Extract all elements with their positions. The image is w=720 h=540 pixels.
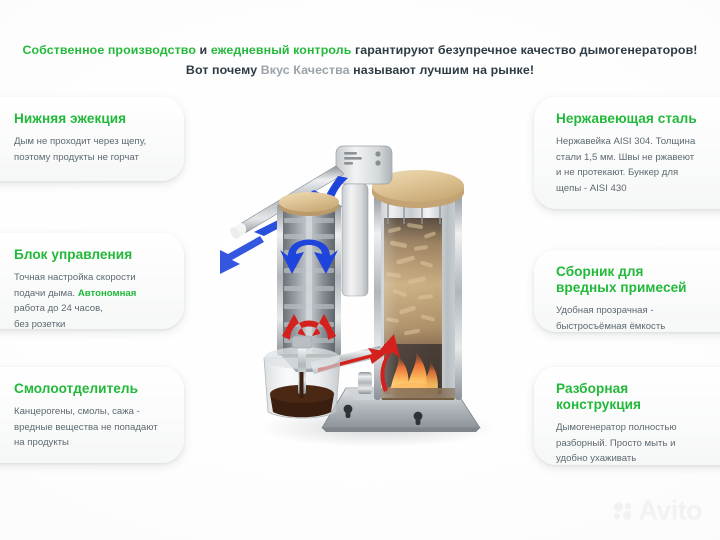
card-body-control-unit: Точная настройка скорости подачи дыма. А… <box>14 270 168 332</box>
card-body-tar-separator: Канцерогены, смолы, сажа - вредные вещес… <box>14 404 168 451</box>
card-title-lower-ejection: Нижняя эжекция <box>14 111 168 127</box>
card-title-impurity-collector: Сборник для вредных примесей <box>556 264 706 296</box>
card-title-tar-separator: Смолоотделитель <box>14 381 168 397</box>
card-title-dismountable: Разборная конструкция <box>556 381 706 413</box>
header-line1-tail: гарантируют безупречное качество дымоген… <box>351 43 697 57</box>
feature-card-stainless-steel: Нержавеющая сталь Нержавейка AISI 304. Т… <box>534 97 720 209</box>
header-line2-lead: Вот почему <box>186 63 261 77</box>
card-body-control-unit-accent: Автономная <box>78 288 137 299</box>
card-body-dismountable: Дымогенератор полностью разборный. Прост… <box>556 420 706 467</box>
feature-card-dismountable: Разборная конструкция Дымогенератор полн… <box>534 367 720 465</box>
support-column <box>358 372 372 394</box>
avito-wordmark: Avito <box>639 497 703 524</box>
card-body-stainless-steel: Нержавейка AISI 304. Толщина стали 1,5 м… <box>556 134 706 196</box>
card-body-impurity-collector: Удобная прозрачная - быстросъёмная ёмкос… <box>556 303 706 334</box>
header-highlight-control: ежедневный контроль <box>211 43 352 57</box>
header-line-2: Вот почему Вкус Качества называют лучшим… <box>14 62 706 80</box>
header-line-1: Собственное производство и ежедневный ко… <box>14 42 706 60</box>
avito-dots-icon <box>614 502 634 519</box>
feature-card-impurity-collector: Сборник для вредных примесей Удобная про… <box>534 250 720 332</box>
wood-chip-hopper <box>372 170 464 400</box>
card-title-stainless-steel: Нержавеющая сталь <box>556 111 706 127</box>
avito-watermark: Avito <box>614 497 703 524</box>
brand-name: Вкус Качества <box>261 63 350 77</box>
header-conjunction: и <box>196 43 211 57</box>
header-line2-tail: называют лучшим на рынке! <box>350 63 534 77</box>
product-illustration <box>218 132 504 452</box>
card-title-control-unit: Блок управления <box>14 247 168 263</box>
card-body-control-unit-part2: работа до 24 часов, без розетки <box>14 303 103 330</box>
feature-card-tar-separator: Смолоотделитель Канцерогены, смолы, сажа… <box>0 367 184 463</box>
feature-card-lower-ejection: Нижняя эжекция Дым не проходит через щеп… <box>0 97 184 181</box>
header-highlight-production: Собственное производство <box>22 43 196 57</box>
header-banner: Собственное производство и ежедневный ко… <box>0 42 720 80</box>
page-background: Собственное производство и ежедневный ко… <box>0 0 720 540</box>
feature-card-control-unit: Блок управления Точная настройка скорост… <box>0 233 184 329</box>
card-body-lower-ejection: Дым не проходит через щепу, поэтому прод… <box>14 134 168 165</box>
